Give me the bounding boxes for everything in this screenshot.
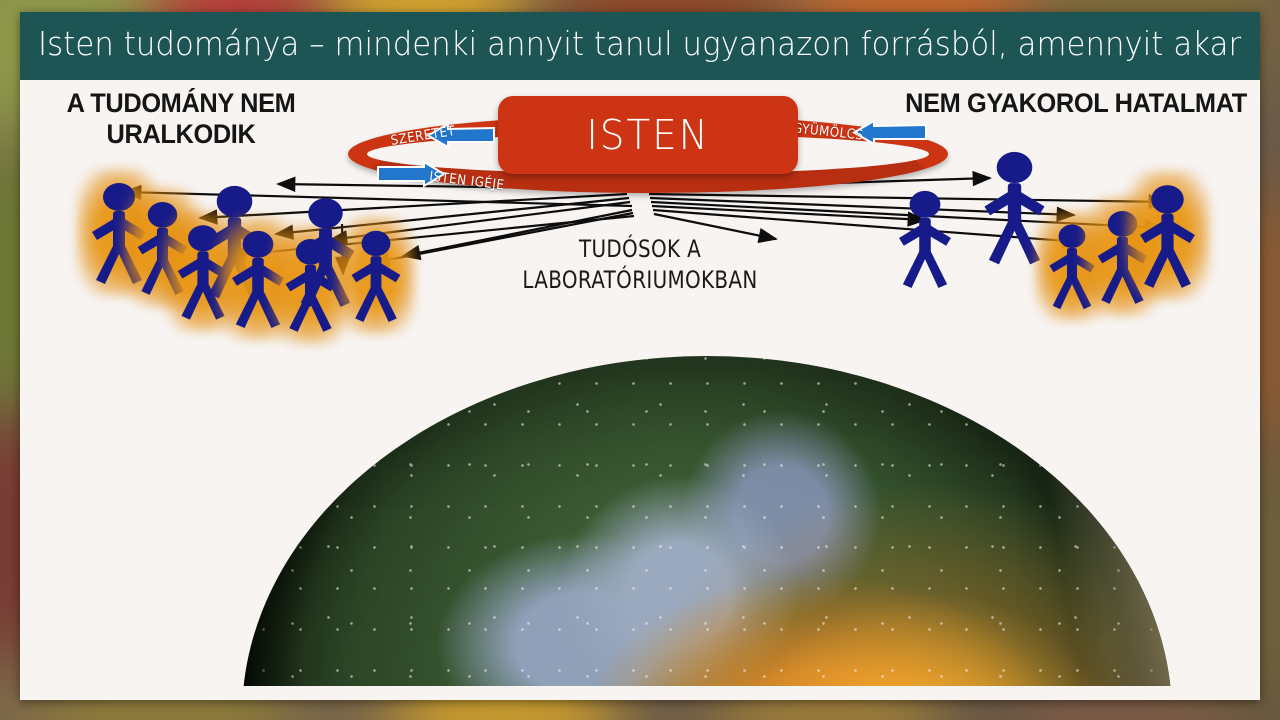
cycle-center-label: ISTEN xyxy=(506,96,791,174)
scientists-caption: TUDÓSOK A LABORATÓRIUMOKBAN xyxy=(491,234,790,295)
cycle-center-box: ISTEN xyxy=(498,96,798,174)
presentation-slide: Isten tudománya – mindenki annyit tanul … xyxy=(20,12,1260,700)
stick-figure xyxy=(348,228,404,323)
caption-line-2: LABORATÓRIUMOKBAN xyxy=(491,265,790,296)
figure-body-icon xyxy=(895,188,955,289)
figure-body-icon xyxy=(348,228,404,323)
caption-line-1: TUDÓSOK A xyxy=(491,234,790,265)
god-cycle-diagram: SZERETET ISTEN IGÉJE GYÜMÖLCS ISTEN xyxy=(338,98,958,203)
slide-stage: Isten tudománya – mindenki annyit tanul … xyxy=(0,0,1280,720)
stick-figure xyxy=(1136,182,1199,289)
figure-body-icon xyxy=(1136,182,1199,289)
stick-figure xyxy=(895,188,955,289)
